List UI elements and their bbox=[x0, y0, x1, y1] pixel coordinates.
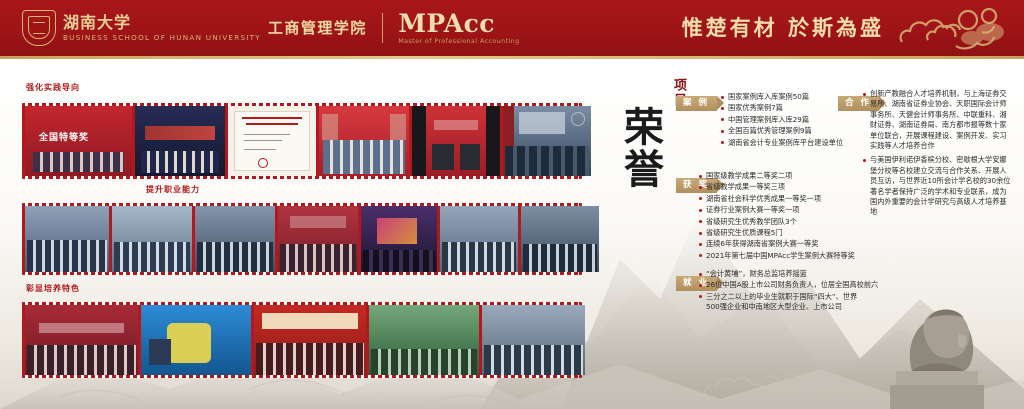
header-motto: 惟楚有材 於斯為盛 bbox=[682, 12, 884, 42]
section-employment-list: “会计黄埔”，财务总监培养摇篮 26位中国A股上市公司财务负责人，位居全国高校前… bbox=[698, 269, 874, 313]
brand-logo-group[interactable]: 湖南大学 BUSINESS SCHOOL OF HUNAN UNIVERSITY… bbox=[22, 9, 520, 47]
hunan-university-crest-icon bbox=[22, 10, 56, 46]
list-item: 省级教学成果一等奖三项 bbox=[698, 182, 874, 192]
list-item: 与美国伊利诺伊香槟分校、密歇根大学安娜堡分校等名校建立交流与合作关系、开展人员互… bbox=[862, 155, 1012, 217]
strip-label-1: 提升职业能力 bbox=[146, 184, 200, 195]
mao-zedong-statue-icon bbox=[872, 289, 1002, 409]
section-cooperation: 合 作 创新产教融合人才培养机制，与上海证券交易所、湖南省证券业协会、天职国际会… bbox=[838, 90, 879, 111]
photo-strip-2[interactable] bbox=[22, 302, 582, 378]
photo-0-2[interactable] bbox=[228, 106, 316, 176]
list-item: 2021年第七届中国MPAcc学生案例大赛特等奖 bbox=[698, 251, 874, 261]
university-name-en: BUSINESS SCHOOL OF HUNAN UNIVERSITY bbox=[63, 32, 261, 43]
section-case-heading: 案 例 bbox=[676, 96, 717, 111]
program-name-main: MPAcc bbox=[398, 11, 519, 37]
list-item: 连续6年获得湖南省案例大赛一等奖 bbox=[698, 239, 874, 249]
university-name-block: 湖南大学 BUSINESS SCHOOL OF HUNAN UNIVERSITY bbox=[63, 13, 261, 43]
list-item: 26位中国A股上市公司财务负责人，位居全国高校前六 bbox=[698, 280, 874, 290]
photo-1-4[interactable] bbox=[361, 206, 437, 272]
photo-1-0[interactable] bbox=[25, 206, 109, 272]
photo-2-1[interactable] bbox=[141, 305, 251, 375]
photo-1-6[interactable] bbox=[521, 206, 599, 272]
strip-label-2: 彰显培养特色 bbox=[26, 283, 80, 294]
auspicious-cloud-ornament-icon bbox=[894, 2, 1014, 54]
photo-2-0[interactable] bbox=[25, 305, 138, 375]
brand-divider bbox=[382, 13, 383, 43]
photo-0-3[interactable] bbox=[319, 106, 409, 176]
list-item: “会计黄埔”，财务总监培养摇篮 bbox=[698, 269, 874, 279]
bottom-cloud-ornament-icon bbox=[700, 357, 900, 407]
strip-label-0: 强化实践导向 bbox=[26, 82, 80, 93]
photo-1-5[interactable] bbox=[440, 206, 518, 272]
photo-strip-1[interactable] bbox=[22, 203, 582, 275]
list-item: 三分之二以上的毕业生就职于国际“四大”、世界500强企业和中南地区大型企业、上市… bbox=[698, 292, 858, 312]
photo-0-4[interactable] bbox=[412, 106, 500, 176]
photo-2-4[interactable] bbox=[482, 305, 585, 375]
poster-canvas: 湖南大学 BUSINESS SCHOOL OF HUNAN UNIVERSITY… bbox=[0, 0, 1024, 409]
section-case: 案 例 国家案例库入库案例50篇 国家优秀案例7篇 中国管理案例库入库29篇 全… bbox=[676, 90, 717, 111]
list-item: 省级研究生优秀教学团队3个 bbox=[698, 217, 874, 227]
photo-1-2[interactable] bbox=[195, 206, 275, 272]
list-item: 湖南省社会科学优秀成果一等奖一项 bbox=[698, 194, 874, 204]
list-item: 国家级教学成果二等奖二项 bbox=[698, 171, 874, 181]
calligraphy-title-big: 荣誉 bbox=[618, 106, 662, 190]
photo-0-1[interactable] bbox=[135, 106, 225, 176]
photo-2-2[interactable] bbox=[254, 305, 366, 375]
photo-0-0[interactable]: 全国特等奖 bbox=[25, 106, 132, 176]
section-cooperation-list: 创新产教融合人才培养机制，与上海证券交易所、湖南省证券业协会、天职国际会计师事务… bbox=[862, 89, 1022, 219]
list-item: 省级研究生优质课程5门 bbox=[698, 228, 874, 238]
school-name-cn: 工商管理学院 bbox=[268, 19, 367, 38]
photo-2-3[interactable] bbox=[369, 305, 479, 375]
header-bar: 湖南大学 BUSINESS SCHOOL OF HUNAN UNIVERSITY… bbox=[0, 0, 1024, 56]
program-name-block: MPAcc Master of Professional Accounting bbox=[398, 11, 519, 46]
photo-1-3[interactable] bbox=[278, 206, 358, 272]
photo-1-1[interactable] bbox=[112, 206, 192, 272]
university-name-cn: 湖南大学 bbox=[63, 13, 261, 32]
section-award-list: 国家级教学成果二等奖二项 省级教学成果一等奖三项 湖南省社会科学优秀成果一等奖一… bbox=[698, 171, 874, 262]
list-item: 证券行业案例大赛一等奖一项 bbox=[698, 205, 874, 215]
section-award: 获 奖 国家级教学成果二等奖二项 省级教学成果一等奖三项 湖南省社会科学优秀成果… bbox=[676, 172, 717, 193]
section-employment: 就 业 “会计黄埔”，财务总监培养摇篮 26位中国A股上市公司财务负责人，位居全… bbox=[676, 270, 717, 291]
photo-strip-0[interactable]: 全国特等奖 bbox=[22, 103, 582, 179]
list-item: 创新产教融合人才培养机制，与上海证券交易所、湖南省证券业协会、天职国际会计师事务… bbox=[862, 89, 1012, 151]
program-name-sub: Master of Professional Accounting bbox=[398, 37, 519, 46]
photo-0-5[interactable] bbox=[503, 106, 591, 176]
